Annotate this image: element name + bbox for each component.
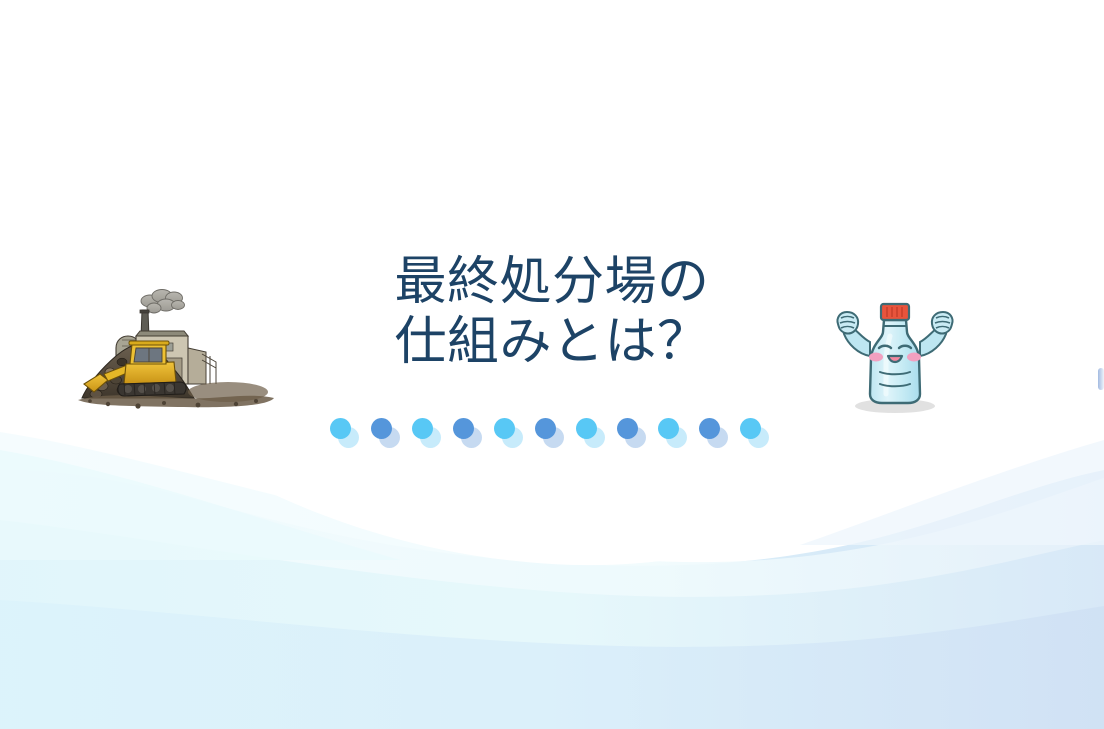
dot-main-7 [576, 418, 597, 439]
dot-item-4 [453, 418, 474, 448]
pet-bottle-mascot [828, 296, 962, 414]
decorative-dot-row [330, 418, 760, 450]
mascot-right-arm [920, 312, 953, 356]
mascot-left-cheek [869, 353, 883, 362]
dot-item-3 [412, 418, 433, 448]
dot-item-10 [699, 418, 720, 448]
dot-main-6 [535, 418, 556, 439]
hero-content: 最終処分場の 仕組みとは？ [0, 0, 1104, 729]
mascot-right-cheek [907, 353, 921, 362]
dot-item-2 [371, 418, 392, 448]
mascot-mouth [888, 356, 902, 362]
dot-main-9 [658, 418, 679, 439]
dot-main-10 [699, 418, 720, 439]
mascot-bottle-cap [881, 304, 909, 320]
mascot-left-arm [837, 312, 870, 356]
dot-main-11 [740, 418, 761, 439]
dot-main-1 [330, 418, 351, 439]
dot-main-5 [494, 418, 515, 439]
dot-item-11 [740, 418, 761, 448]
dot-item-5 [494, 418, 515, 448]
cut-off-edge-element [1098, 368, 1104, 390]
dot-main-4 [453, 418, 474, 439]
slide-canvas: 最終処分場の 仕組みとは？ [0, 0, 1104, 729]
dot-main-2 [371, 418, 392, 439]
dot-main-8 [617, 418, 638, 439]
dot-item-7 [576, 418, 597, 448]
dot-item-1 [330, 418, 351, 448]
dot-item-6 [535, 418, 556, 448]
dot-item-8 [617, 418, 638, 448]
dot-item-9 [658, 418, 679, 448]
dot-main-3 [412, 418, 433, 439]
